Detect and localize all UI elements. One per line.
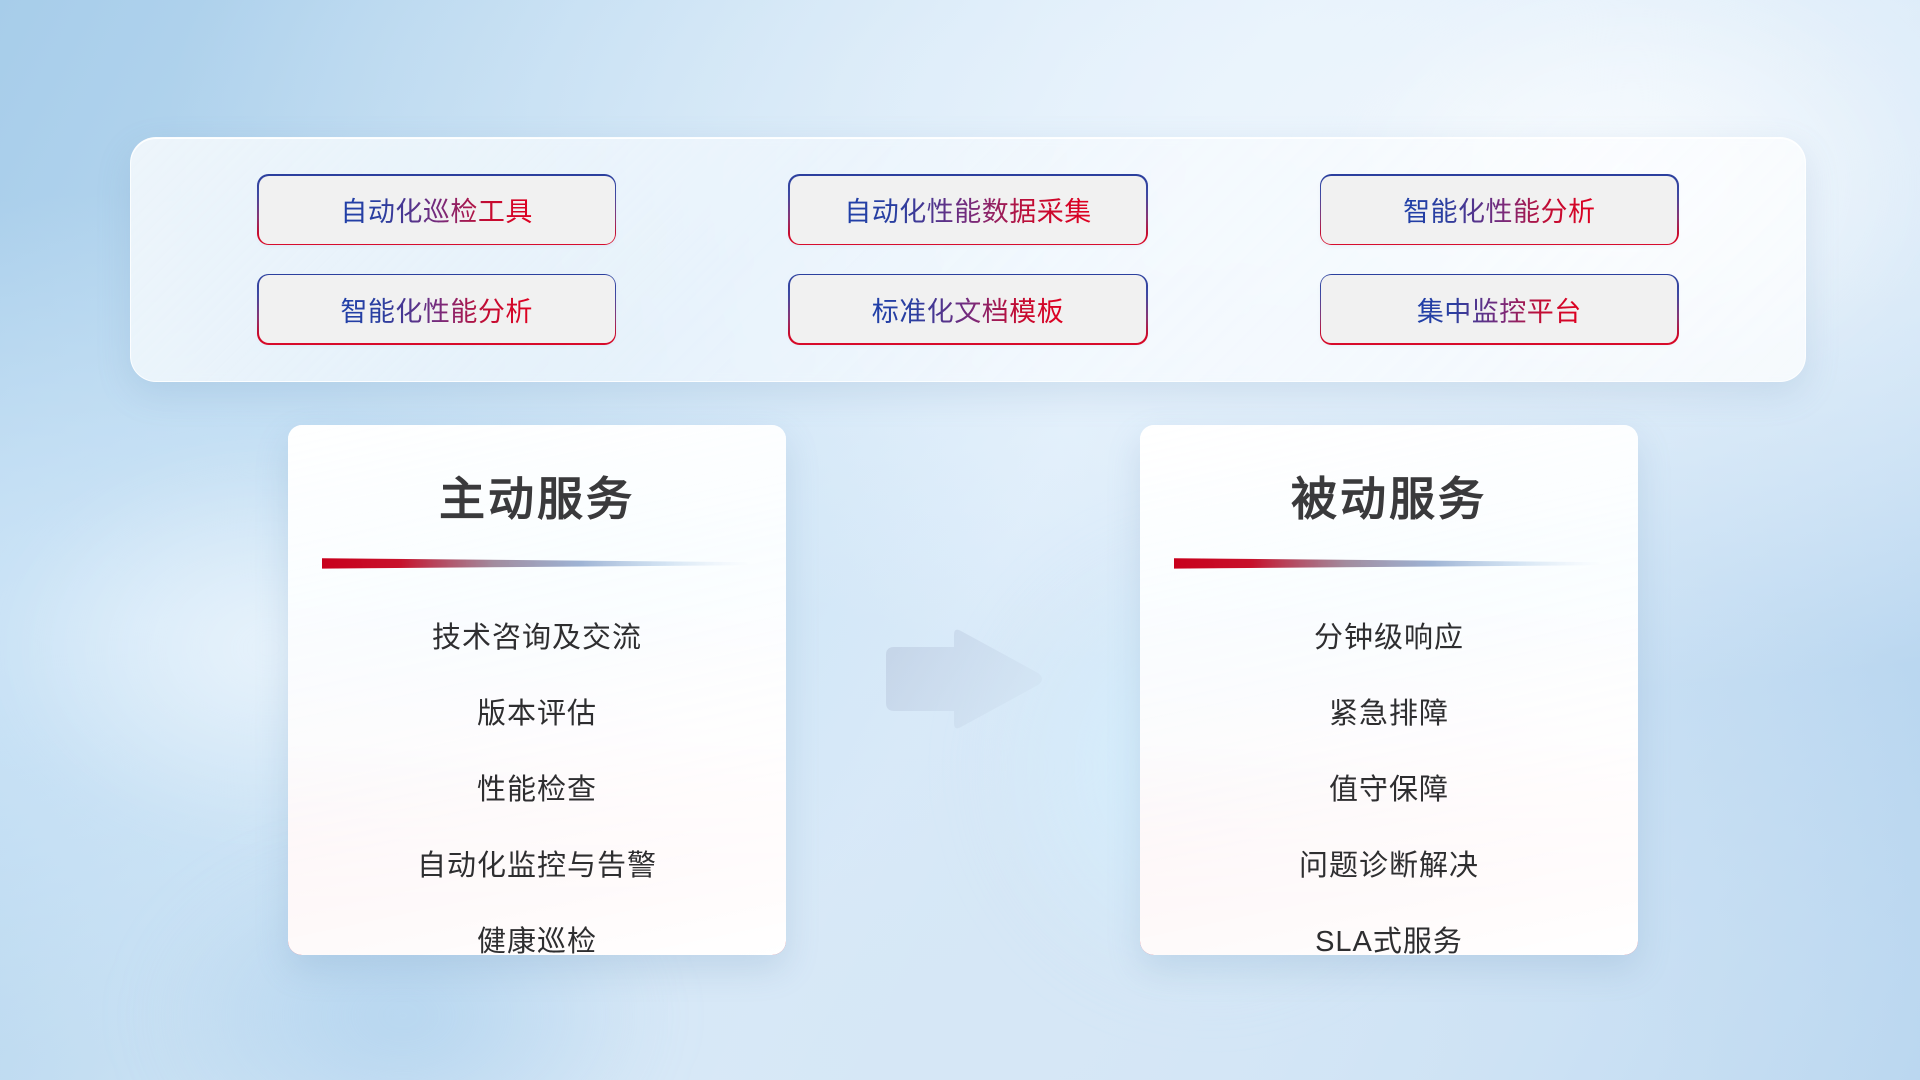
service-list-item: 值守保障 <box>1140 749 1638 825</box>
service-card-proactive: 主动服务 技术咨询及交流 版本评估 性能检查 <box>288 425 786 955</box>
service-list: 技术咨询及交流 版本评估 性能检查 自动化监控与告警 健康巡检 <box>288 597 786 955</box>
capability-tag[interactable]: 集中监控平台 <box>1321 275 1677 343</box>
capability-tag-grid: 自动化巡检工具 自动化性能数据采集 智能化性能分析 智能化性能分析 标准化文档模… <box>131 138 1805 381</box>
service-list-item: 技术咨询及交流 <box>288 597 786 673</box>
card-title: 主动服务 <box>288 463 786 529</box>
service-list-item: 紧急排障 <box>1140 673 1638 749</box>
capability-tag-label: 智能化性能分析 <box>1403 190 1596 229</box>
service-card-reactive: 被动服务 分钟级响应 紧急排障 值守保障 <box>1140 425 1638 955</box>
service-list-item: 分钟级响应 <box>1140 597 1638 673</box>
capability-tag-label: 自动化巡检工具 <box>340 190 533 229</box>
capability-panel: 自动化巡检工具 自动化性能数据采集 智能化性能分析 智能化性能分析 标准化文档模… <box>130 137 1806 382</box>
service-list-item: 性能检查 <box>288 749 786 825</box>
service-list-item: 自动化监控与告警 <box>288 825 786 901</box>
card-title: 被动服务 <box>1140 463 1638 529</box>
capability-tag-label: 标准化文档模板 <box>872 290 1065 329</box>
capability-tag[interactable]: 标准化文档模板 <box>790 275 1146 343</box>
service-list-item: 版本评估 <box>288 673 786 749</box>
diagram-stage: 自动化巡检工具 自动化性能数据采集 智能化性能分析 智能化性能分析 标准化文档模… <box>0 0 1920 1080</box>
card-divider <box>322 555 752 571</box>
capability-tag[interactable]: 自动化巡检工具 <box>259 176 615 244</box>
capability-tag-label: 集中监控平台 <box>1417 290 1582 329</box>
service-list-item: 健康巡检 <box>288 901 786 955</box>
card-divider <box>1174 555 1604 571</box>
service-list: 分钟级响应 紧急排障 值守保障 问题诊断解决 SLA式服务 <box>1140 597 1638 955</box>
capability-tag[interactable]: 智能化性能分析 <box>1321 176 1677 244</box>
arrow-right-icon <box>880 625 1046 733</box>
capability-tag[interactable]: 智能化性能分析 <box>259 275 615 343</box>
capability-tag[interactable]: 自动化性能数据采集 <box>790 176 1146 244</box>
service-list-item: SLA式服务 <box>1140 901 1638 955</box>
capability-tag-label: 自动化性能数据采集 <box>844 190 1092 229</box>
capability-tag-label: 智能化性能分析 <box>340 290 533 329</box>
service-list-item: 问题诊断解决 <box>1140 825 1638 901</box>
